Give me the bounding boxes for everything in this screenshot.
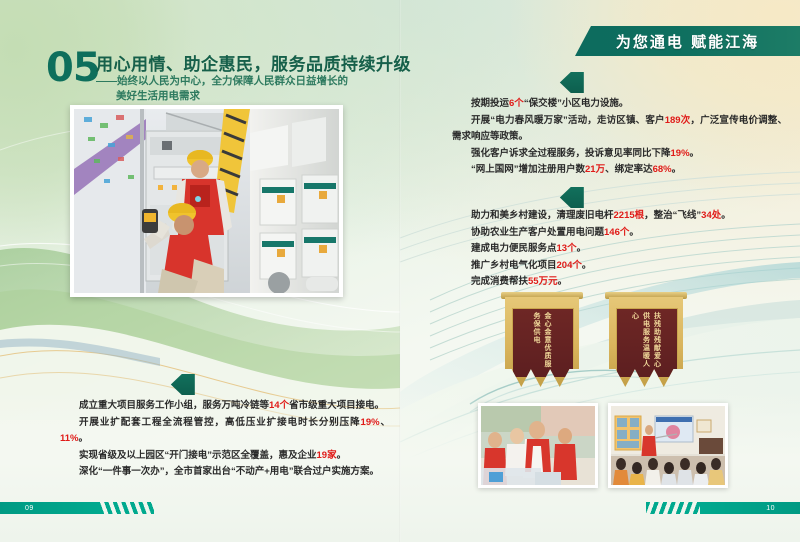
page-gutter — [399, 0, 401, 542]
paragraph-rural: 助力和美乡村建设，清理废旧电杆2215根，整治“飞线”34处。协助农业生产客户处… — [452, 208, 787, 291]
body-text: 强化客户诉求全过程服务，投诉意见率同比下降 — [471, 148, 671, 159]
highlight-metric: 11% — [60, 433, 79, 444]
footer-page-left: 09 — [0, 502, 100, 514]
body-text: 深化“一件事一次办”，全市首家出台“不动产+用电”联合过户实施方案。 — [79, 466, 379, 477]
footer-page-right: 10 — [700, 502, 800, 514]
paragraph-line: 完成消费帮扶55万元。 — [452, 274, 787, 291]
body-text: “网上国网”增加注册用户数 — [471, 164, 585, 175]
page-title: 用心用情、助企惠民，服务品质持续升级 — [96, 50, 411, 75]
body-text: 。 — [337, 450, 347, 461]
body-text: 。 — [690, 148, 700, 159]
highlight-metric: 146个 — [604, 227, 629, 238]
body-text: 、 — [380, 417, 390, 428]
body-text: 建成电力便民服务点 — [471, 243, 557, 254]
pennant-right: 扶残助残献爱心供电服务温暖人心 — [609, 292, 683, 394]
section-number: 05 — [46, 48, 100, 88]
body-text: 。 — [79, 433, 89, 444]
body-text: 助力和美乡村建设，清理废旧电杆 — [471, 210, 614, 221]
pennant-field: 扶残助残献爱心供电服务温暖人心 — [616, 308, 678, 378]
page-number-right: 10 — [766, 505, 775, 512]
highlight-metric: 189次 — [665, 115, 691, 126]
body-text: 。 — [577, 243, 587, 254]
body-text: 省市级重大项目接电。 — [289, 400, 384, 411]
page-number-left: 09 — [25, 505, 34, 512]
pennant-body: 金心金意优质服务保供电 — [505, 297, 579, 387]
body-text: 。 — [672, 164, 682, 175]
paragraph-line: 助力和美乡村建设，清理废旧电杆2215根，整治“飞线”34处。 — [452, 208, 787, 225]
body-text: 完成消费帮扶 — [471, 276, 528, 287]
body-text: 开展业扩配套工程全流程管控，高低压业扩接电时长分别压降 — [79, 417, 361, 428]
highlight-metric: 6个 — [509, 98, 524, 109]
pennant-left: 金心金意优质服务保供电 — [505, 292, 579, 394]
highlight-metric: 204个 — [557, 260, 582, 271]
footer-stripes-right — [646, 502, 700, 514]
pennant-body: 扶残助残献爱心供电服务温暖人心 — [609, 297, 683, 387]
page-subtitle: ——始终以人民为中心，全力保障人民群众日益增长的 美好生活用电需求 — [96, 74, 348, 104]
paragraph-line: 建成电力便民服务点13个。 — [452, 241, 787, 258]
highlight-metric: 34处 — [701, 210, 721, 221]
paragraph-business-environment: 成立重大项目服务工作小组，服务万吨冷链等14个省市级重大项目接电。开展业扩配套工… — [60, 398, 390, 481]
paragraph-livelihood: 按期投运6个“保交楼”小区电力设施。开展“电力春风暖万家”活动，走访区镇、客户1… — [452, 96, 787, 179]
paragraph-line: 按期投运6个“保交楼”小区电力设施。 — [452, 96, 787, 113]
body-text: 成立重大项目服务工作小组，服务万吨冷链等 — [79, 400, 269, 411]
pennant-field: 金心金意优质服务保供电 — [512, 308, 574, 378]
highlight-metric: 2215根 — [614, 210, 645, 221]
paragraph-line: “网上国网”增加注册用户数21万、绑定率达68%。 — [452, 162, 787, 179]
body-text: 实现省级及以上园区“开门接电”示范区全覆盖，惠及企业 — [79, 450, 317, 461]
photo-appreciation-pennants: 金心金意优质服务保供电 扶残助残献爱心供电服务温暖人心 — [505, 292, 700, 397]
paragraph-line: 强化客户诉求全过程服务，投诉意见率同比下降19%。 — [452, 146, 787, 163]
body-text: 按期投运 — [471, 98, 509, 109]
body-text: 开展“电力春风暖万家”活动，走访区镇、客户 — [471, 115, 665, 126]
paragraph-line: 开展“电力春风暖万家”活动，走访区镇、客户189次，广泛宣传电价调整、需求响应等… — [452, 113, 787, 146]
body-text: 。 — [629, 227, 639, 238]
paragraph-line: 深化“一件事一次办”，全市首家出台“不动产+用电”联合过户实施方案。 — [60, 464, 390, 481]
slogan-text: 为您通电 赋能江海 — [616, 31, 759, 52]
body-text: “保交楼”小区电力设施。 — [524, 98, 629, 109]
body-text: ，整治“飞线” — [644, 210, 701, 221]
slogan-banner: 为您通电 赋能江海 — [575, 26, 800, 56]
photo-safety-lecture-classroom — [608, 403, 728, 488]
footer-stripes-left — [100, 502, 154, 514]
photo-workers-inspecting-switchgear — [70, 105, 343, 297]
body-text: 。 — [721, 210, 731, 221]
page-subtitle-line2: 美好生活用电需求 — [96, 89, 348, 104]
paragraph-line: 实现省级及以上园区“开门接电”示范区全覆盖，惠及企业19家。 — [60, 448, 390, 465]
paragraph-line: 协助农业生产客户处置用电问题146个。 — [452, 225, 787, 242]
body-text: 。 — [582, 260, 592, 271]
highlight-metric: 55万元 — [528, 276, 558, 287]
page-subtitle-line1: ——始终以人民为中心，全力保障人民群众日益增长的 — [96, 75, 348, 87]
highlight-metric: 19% — [361, 417, 380, 428]
pennant-text: 扶残助残献爱心供电服务温暖人心 — [617, 309, 677, 377]
highlight-metric: 68% — [653, 164, 672, 175]
highlight-metric: 21万 — [585, 164, 605, 175]
body-text: 。 — [558, 276, 568, 287]
highlight-metric: 19% — [671, 148, 690, 159]
pennant-text: 金心金意优质服务保供电 — [513, 309, 573, 377]
brochure-page-spread: 为您通电 赋能江海 05 用心用情、助企惠民，服务品质持续升级 ——始终以人民为… — [0, 0, 800, 542]
body-text: 协助农业生产客户处置用电问题 — [471, 227, 604, 238]
paragraph-line: 开展业扩配套工程全流程管控，高低压业扩接电时长分别压降19%、11%。 — [60, 415, 390, 448]
paragraph-line: 推广乡村电气化项目204个。 — [452, 258, 787, 275]
body-text: 推广乡村电气化项目 — [471, 260, 557, 271]
paragraph-line: 成立重大项目服务工作小组，服务万吨冷链等14个省市级重大项目接电。 — [60, 398, 390, 415]
body-text: 、绑定率达 — [605, 164, 653, 175]
highlight-metric: 19家 — [317, 450, 337, 461]
highlight-metric: 13个 — [557, 243, 577, 254]
photo-community-volunteers — [478, 403, 598, 488]
highlight-metric: 14个 — [269, 400, 289, 411]
